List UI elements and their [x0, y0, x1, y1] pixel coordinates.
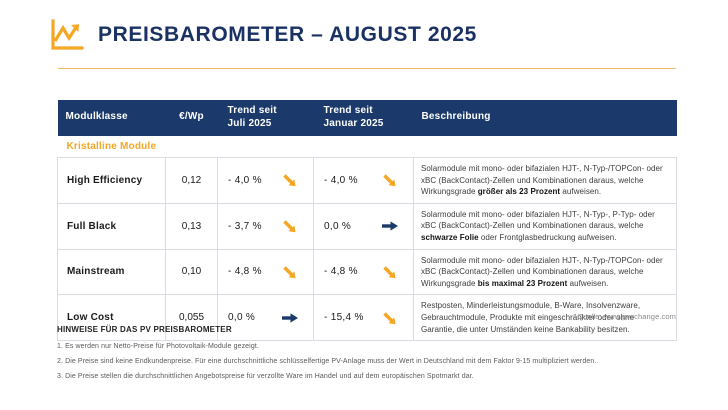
note-item: 2. Die Preise sind keine Endkundenpreise…	[57, 358, 697, 365]
trend-value: - 3,7 %	[228, 221, 262, 232]
cell-trend-juli: - 4,0 %	[218, 158, 314, 204]
notes-title: HINWEISE FÜR DAS PV PREISBAROMETER	[57, 325, 697, 334]
trend-value: - 4,0 %	[324, 175, 358, 186]
arrow-right-icon	[281, 311, 299, 325]
table-row: Full Black0,13- 3,7 %0,0 %Solarmodule mi…	[58, 203, 677, 249]
description-text-tail: oder Frontglasbedruckung aufweisen.	[479, 233, 617, 242]
preisbarometer-page: PREISBAROMETER – AUGUST 2025 Modulklasse…	[0, 0, 728, 410]
description-emphasis: schwarze Folie	[421, 233, 479, 242]
cell-beschreibung: Solarmodule mit mono- oder bifazialen HJ…	[414, 249, 677, 295]
description-emphasis: bis maximal 23 Prozent	[478, 279, 568, 288]
trend-value: - 4,8 %	[324, 266, 358, 277]
description-text: Solarmodule mit mono- oder bifazialen HJ…	[421, 210, 655, 231]
column-header-trend-januar-line2: Januar 2025	[324, 118, 384, 129]
cell-preis: 0,13	[166, 203, 218, 249]
description-text-tail: aufweisen.	[560, 187, 601, 196]
source-note: Quelle: www.pvxchange.com	[577, 312, 676, 321]
trend-value: 0,0 %	[324, 221, 351, 232]
arrow-down-right-icon	[281, 219, 299, 233]
note-item: 1. Es werden nur Netto-Preise für Photov…	[57, 343, 697, 350]
trend-value: - 4,0 %	[228, 175, 262, 186]
table-body: Kristalline Module High Efficiency0,12- …	[58, 136, 677, 341]
arrow-down-right-icon	[381, 311, 399, 325]
cell-modulklasse: Full Black	[58, 203, 166, 249]
trend-value: - 15,4 %	[324, 312, 364, 323]
arrow-down-right-icon	[381, 173, 399, 187]
column-header-modulklasse: Modulklasse	[58, 100, 166, 136]
cell-modulklasse: High Efficiency	[58, 158, 166, 204]
arrow-down-right-icon	[281, 265, 299, 279]
cell-trend-juli: - 4,8 %	[218, 249, 314, 295]
group-label-kristalline-module: Kristalline Module	[58, 136, 677, 158]
header-divider	[58, 68, 676, 69]
cell-trend-januar: - 4,0 %	[314, 158, 414, 204]
note-item: 3. Die Preise stellen die durchschnittli…	[57, 373, 697, 380]
notes-section: HINWEISE FÜR DAS PV PREISBAROMETER 1. Es…	[57, 325, 697, 388]
cell-preis: 0,10	[166, 249, 218, 295]
table-group-row: Kristalline Module	[58, 136, 677, 158]
column-header-preis: €/Wp	[166, 100, 218, 136]
table-row: Mainstream0,10- 4,8 %- 4,8 %Solarmodule …	[58, 249, 677, 295]
column-header-trend-januar-line1: Trend seit	[324, 105, 373, 116]
line-chart-up-icon	[50, 19, 84, 51]
cell-trend-juli: - 3,7 %	[218, 203, 314, 249]
trend-value: 0,0 %	[228, 312, 255, 323]
table-header-row: Modulklasse €/Wp Trend seit Juli 2025 Tr…	[58, 100, 677, 136]
page-title: PREISBAROMETER – AUGUST 2025	[98, 23, 477, 47]
column-header-trend-januar: Trend seit Januar 2025	[314, 100, 414, 136]
column-header-trend-juli-line1: Trend seit	[228, 105, 277, 116]
table-header: Modulklasse €/Wp Trend seit Juli 2025 Tr…	[58, 100, 677, 136]
arrow-down-right-icon	[381, 265, 399, 279]
cell-beschreibung: Solarmodule mit mono- oder bifazialen HJ…	[414, 158, 677, 204]
arrow-right-icon	[381, 219, 399, 233]
arrow-down-right-icon	[281, 173, 299, 187]
cell-preis: 0,12	[166, 158, 218, 204]
column-header-beschreibung: Beschreibung	[414, 100, 677, 136]
price-table-container: Modulklasse €/Wp Trend seit Juli 2025 Tr…	[57, 100, 676, 341]
cell-beschreibung: Solarmodule mit mono- oder bifazialen HJ…	[414, 203, 677, 249]
trend-value: - 4,8 %	[228, 266, 262, 277]
page-header: PREISBAROMETER – AUGUST 2025	[0, 0, 728, 70]
description-text-tail: aufweisen.	[567, 279, 608, 288]
cell-trend-januar: 0,0 %	[314, 203, 414, 249]
column-header-trend-juli: Trend seit Juli 2025	[218, 100, 314, 136]
cell-modulklasse: Mainstream	[58, 249, 166, 295]
price-table: Modulklasse €/Wp Trend seit Juli 2025 Tr…	[57, 100, 677, 341]
column-header-trend-juli-line2: Juli 2025	[228, 118, 272, 129]
table-row: High Efficiency0,12- 4,0 %- 4,0 %Solarmo…	[58, 158, 677, 204]
description-emphasis: größer als 23 Prozent	[478, 187, 560, 196]
cell-trend-januar: - 4,8 %	[314, 249, 414, 295]
